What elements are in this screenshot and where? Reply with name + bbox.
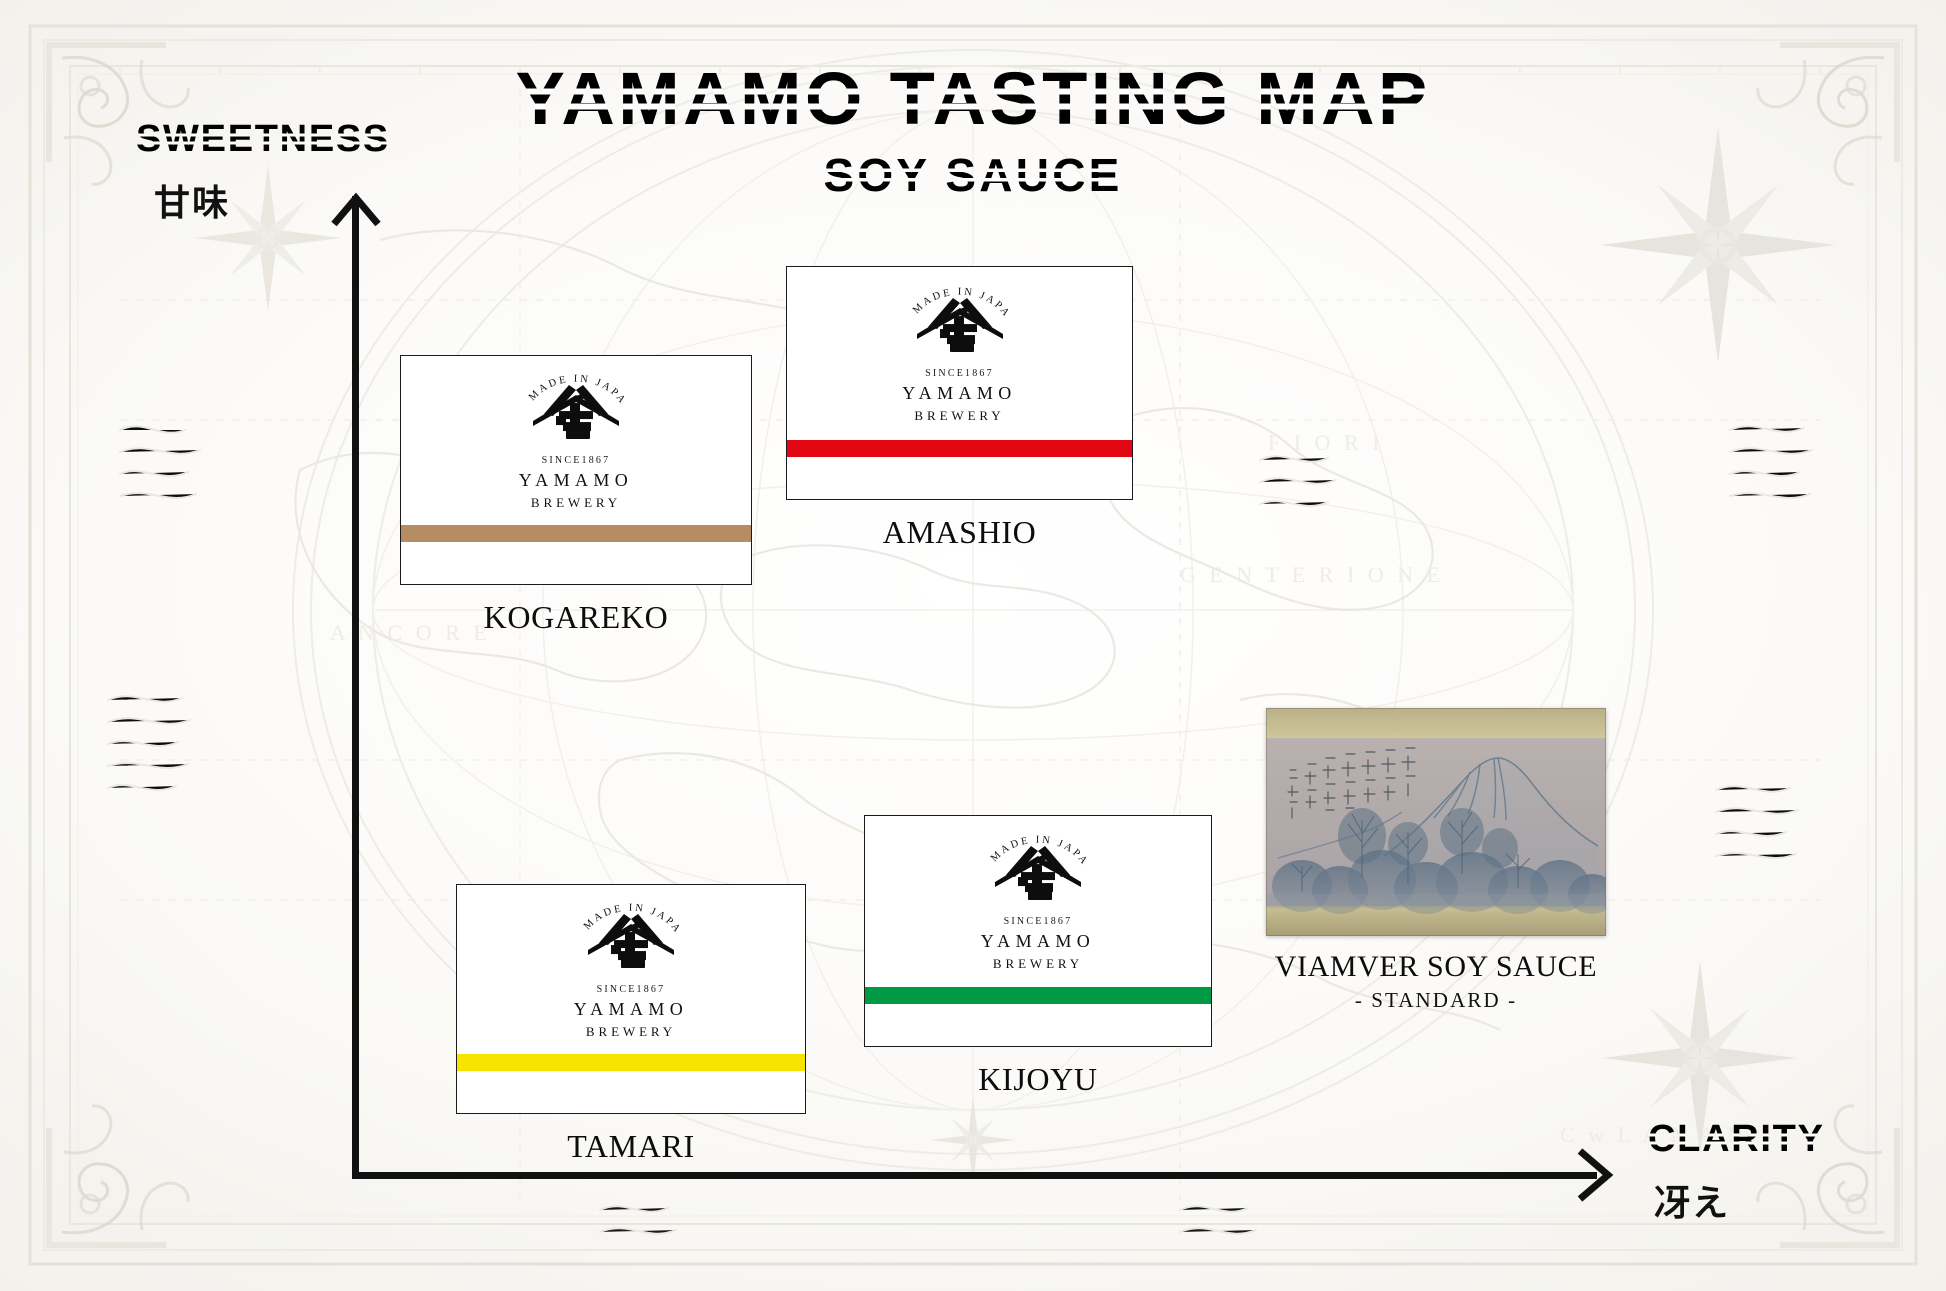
y-axis-label-en: SWEETNESS <box>136 120 390 158</box>
yamamo-crossed-roof-emblem: MADE IN JAPAN <box>975 825 1101 911</box>
y-axis-label: SWEETNESS 甘味 <box>136 120 390 226</box>
product-kogareko[interactable]: MADE IN JAPAN <box>400 355 752 636</box>
brandmark-name: YAMAMO <box>902 383 1016 404</box>
label-upper-area: MADE IN JAPAN <box>401 356 751 525</box>
product-viamver[interactable]: VIAMVER SOY SAUCE - STANDARD - <box>1266 708 1606 1013</box>
yamamo-brandmark: MADE IN JAPAN <box>975 825 1101 972</box>
brandmark-sub: BREWERY <box>586 1024 676 1040</box>
product-amashio[interactable]: MADE IN JAPAN <box>786 266 1133 551</box>
brandmark-sub: BREWERY <box>914 408 1004 424</box>
product-caption-sub: - STANDARD - <box>1266 988 1606 1013</box>
x-axis-label-en: CLARITY <box>1648 1120 1825 1158</box>
yamamo-brandmark: MADE IN JAPAN <box>568 893 694 1040</box>
svg-text:F I O R I: F I O R I <box>1268 430 1383 455</box>
product-caption: KOGAREKO <box>400 599 752 636</box>
product-caption: AMASHIO <box>786 514 1133 551</box>
fuji-scroll-artwork <box>1266 708 1606 936</box>
brandmark-since: SINCE1867 <box>597 984 666 995</box>
product-caption: KIJOYU <box>864 1061 1212 1098</box>
mount-fuji-hanging-scroll-painting <box>1266 708 1606 936</box>
green-stripe <box>865 987 1211 1004</box>
y-axis-line <box>352 196 359 1179</box>
bottle-label-card: MADE IN JAPAN <box>786 266 1133 500</box>
label-upper-area: MADE IN JAPAN <box>865 816 1211 987</box>
y-axis-label-jp: 甘味 <box>154 174 390 226</box>
yamamo-brandmark: MADE IN JAPAN <box>513 364 639 511</box>
red-stripe <box>787 440 1132 457</box>
page-subtitle-text: SOY SAUCE <box>823 152 1122 198</box>
label-lower-area <box>787 457 1132 499</box>
tasting-map-canvas: F I O R I A N C O R E C w L A N A N G E … <box>0 0 1946 1291</box>
brandmark-since: SINCE1867 <box>1004 916 1073 927</box>
label-lower-area <box>401 542 751 584</box>
yamamo-crossed-roof-emblem: MADE IN JAPAN <box>897 277 1023 363</box>
yamamo-crossed-roof-emblem: MADE IN JAPAN <box>513 364 639 450</box>
label-upper-area: MADE IN JAPAN <box>457 885 805 1054</box>
bottle-label-card: MADE IN JAPAN <box>456 884 806 1114</box>
yamamo-brandmark: MADE IN JAPAN <box>897 277 1023 424</box>
x-axis-label: CLARITY 冴え <box>1648 1120 1825 1226</box>
label-lower-area <box>457 1071 805 1113</box>
product-caption: TAMARI <box>456 1128 806 1165</box>
bottle-label-card: MADE IN JAPAN <box>864 815 1212 1047</box>
product-tamari[interactable]: MADE IN JAPAN <box>456 884 806 1165</box>
brandmark-name: YAMAMO <box>519 470 633 491</box>
yellow-stripe <box>457 1054 805 1071</box>
brandmark-since: SINCE1867 <box>925 368 994 379</box>
product-caption: VIAMVER SOY SAUCE <box>1266 950 1606 984</box>
brandmark-since: SINCE1867 <box>542 455 611 466</box>
label-upper-area: MADE IN JAPAN <box>787 267 1132 440</box>
yamamo-crossed-roof-emblem: MADE IN JAPAN <box>568 893 694 979</box>
bottle-label-card: MADE IN JAPAN <box>400 355 752 585</box>
label-lower-area <box>865 1004 1211 1046</box>
x-axis-line <box>352 1172 1597 1179</box>
x-axis-label-en-wrap: CLARITY <box>1648 1120 1825 1158</box>
arrow-right-icon <box>1562 1145 1622 1205</box>
page-title-text: YAMAMO TASTING MAP <box>515 62 1430 136</box>
brandmark-sub: BREWERY <box>531 495 621 511</box>
tan-stripe <box>401 525 751 542</box>
y-axis-label-en-wrap: SWEETNESS <box>136 120 390 158</box>
product-kijoyu[interactable]: MADE IN JAPAN <box>864 815 1212 1098</box>
brandmark-name: YAMAMO <box>574 999 688 1020</box>
brandmark-sub: BREWERY <box>993 956 1083 972</box>
svg-text:G E N T E R I O N E: G E N T E R I O N E <box>1180 562 1444 587</box>
brandmark-name: YAMAMO <box>981 931 1095 952</box>
x-axis-label-jp: 冴え <box>1654 1174 1825 1226</box>
